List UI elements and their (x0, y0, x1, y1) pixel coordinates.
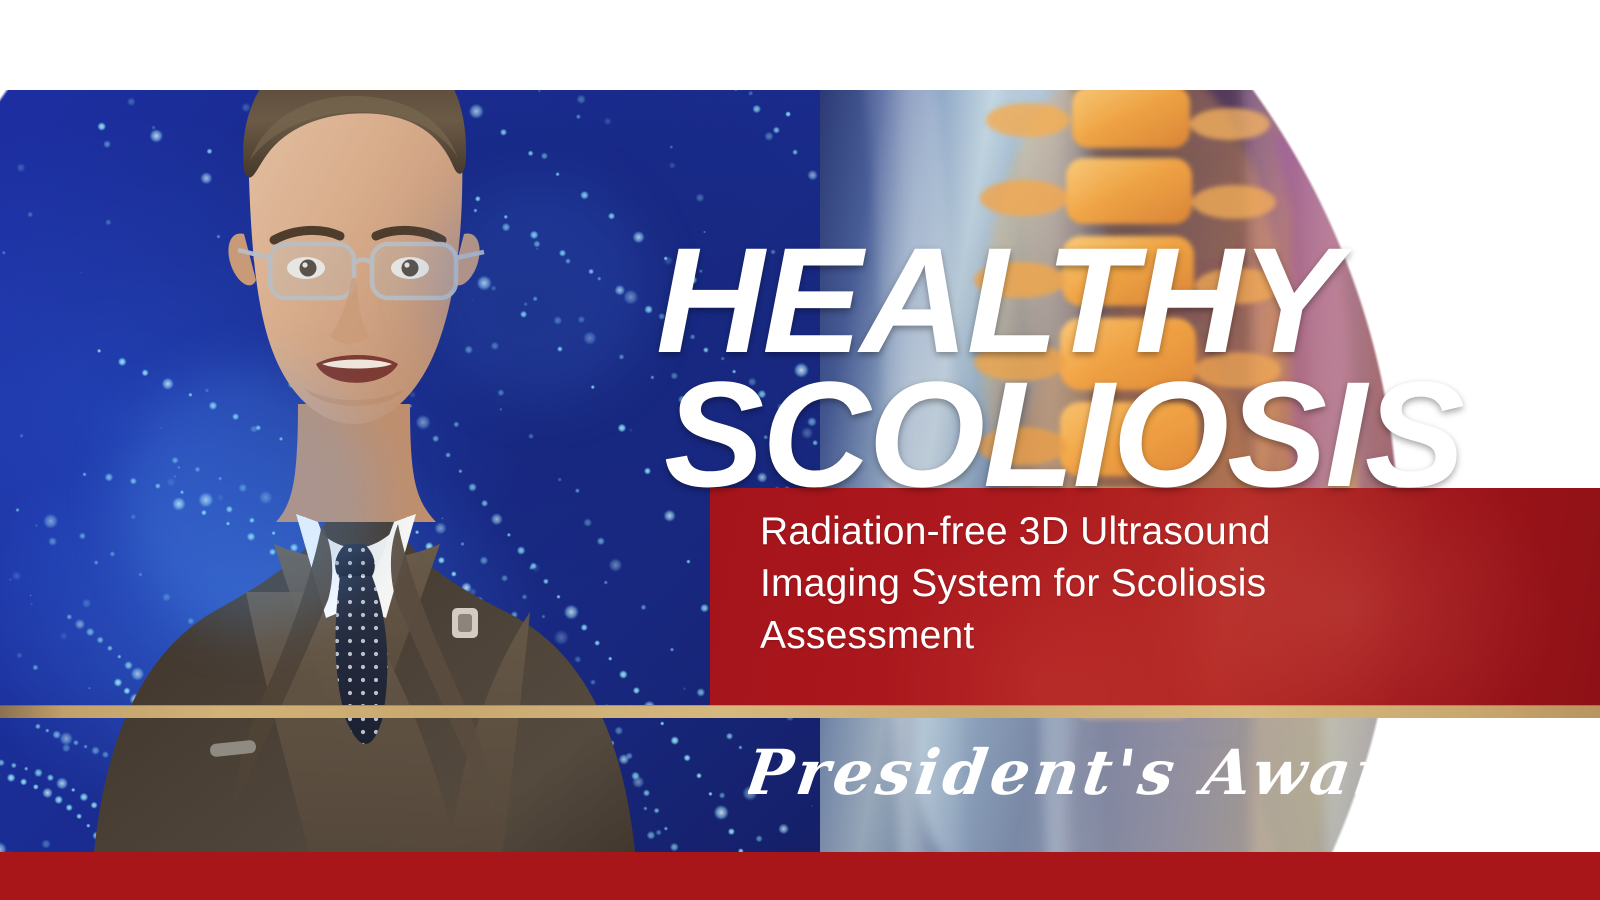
caption-line-2: Imaging System for Scoliosis (760, 558, 1576, 610)
caption-band: Radiation-free 3D Ultrasound Imaging Sys… (710, 488, 1600, 705)
top-white-margin (0, 0, 1600, 90)
headline-line-2: SCOLIOSIS (664, 365, 1463, 503)
presidents-awards-script: President's Awards (748, 718, 1448, 828)
caption-text: Radiation-free 3D Ultrasound Imaging Sys… (760, 506, 1576, 662)
svg-text:President's Awards: President's Awards (748, 736, 1448, 809)
headline-line-1: HEALTHY (656, 236, 1463, 365)
caption-line-3: Assessment (760, 610, 1576, 662)
bottom-red-bar (0, 852, 1600, 900)
headline-group: HEALTHY SCOLIOSIS (656, 236, 1463, 503)
speaker-portrait (60, 90, 760, 852)
gold-divider-rule (0, 705, 1600, 718)
banner-stage: HEALTHY SCOLIOSIS Radiation-free 3D Ultr… (0, 0, 1600, 900)
